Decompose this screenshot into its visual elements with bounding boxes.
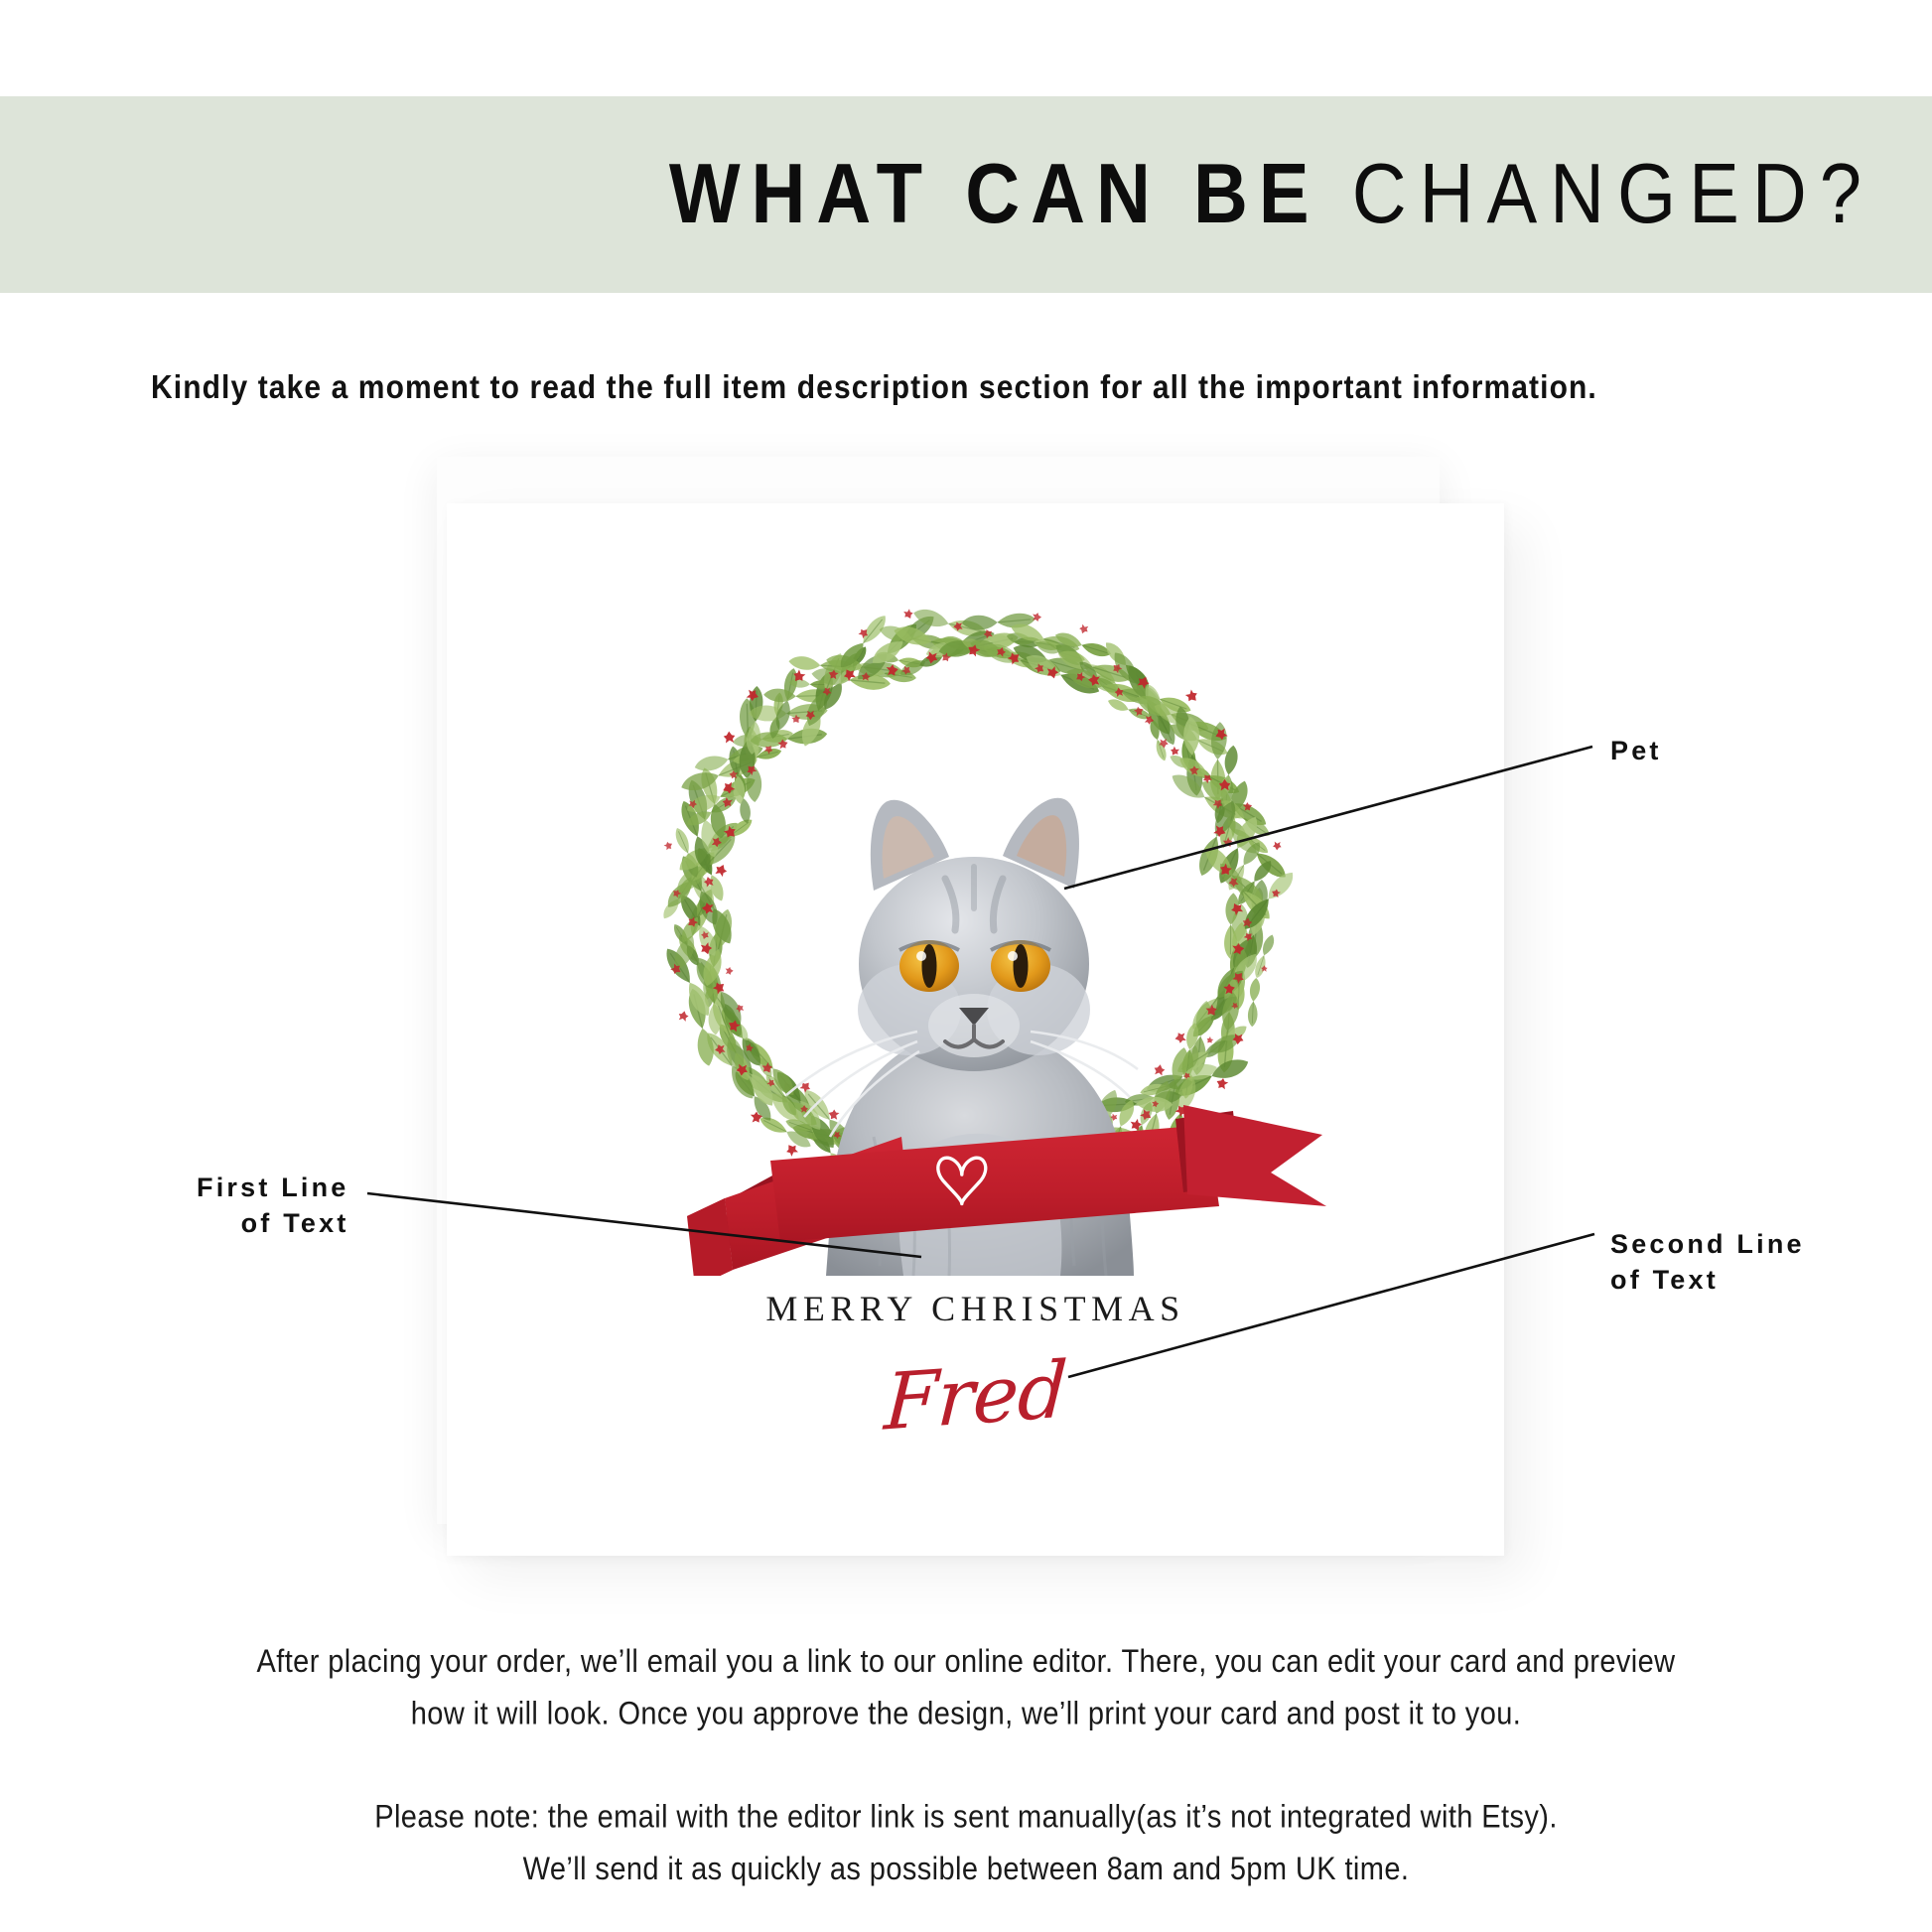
card-front-sheet: MERRY CHRISTMAS Fred [447, 503, 1504, 1556]
page-title-light: CHANGED? [1352, 147, 1874, 241]
footer-p1-line2: how it will look. Once you approve the d… [0, 1689, 1932, 1741]
annotation-second-line-b: of Text [1610, 1262, 1805, 1298]
annotation-first-line-a: First Line [197, 1170, 349, 1205]
card-mockup: MERRY CHRISTMAS Fred [427, 447, 1519, 1569]
footer-spacer [0, 1740, 1932, 1792]
footer-p2-line2: We’ll send it as quickly as possible bet… [0, 1844, 1932, 1896]
card-greeting-line: MERRY CHRISTMAS [447, 1288, 1504, 1329]
annotation-pet-label: Pet [1610, 733, 1662, 768]
header-band: WHAT CAN BE CHANGED? [0, 96, 1932, 293]
footer-text: After placing your order, we’ll email yo… [0, 1636, 1932, 1896]
card-name-line: Fred [446, 1315, 1505, 1479]
annotation-first-line: First Line of Text [197, 1170, 349, 1242]
annotation-pet: Pet [1610, 733, 1662, 768]
card-artwork [576, 581, 1370, 1276]
subtitle-note: Kindly take a moment to read the full it… [151, 369, 1597, 406]
footer-p1-line1: After placing your order, we’ll email yo… [0, 1636, 1932, 1689]
annotation-second-line-a: Second Line [1610, 1226, 1805, 1262]
page-title-bold: WHAT CAN BE [669, 147, 1320, 241]
annotation-second-line: Second Line of Text [1610, 1226, 1805, 1299]
footer-p2-line1: Please note: the email with the editor l… [0, 1792, 1932, 1845]
annotation-first-line-b: of Text [197, 1205, 349, 1241]
page-root: WHAT CAN BE CHANGED? Kindly take a momen… [0, 0, 1932, 1932]
page-title: WHAT CAN BE CHANGED? [669, 152, 1932, 236]
